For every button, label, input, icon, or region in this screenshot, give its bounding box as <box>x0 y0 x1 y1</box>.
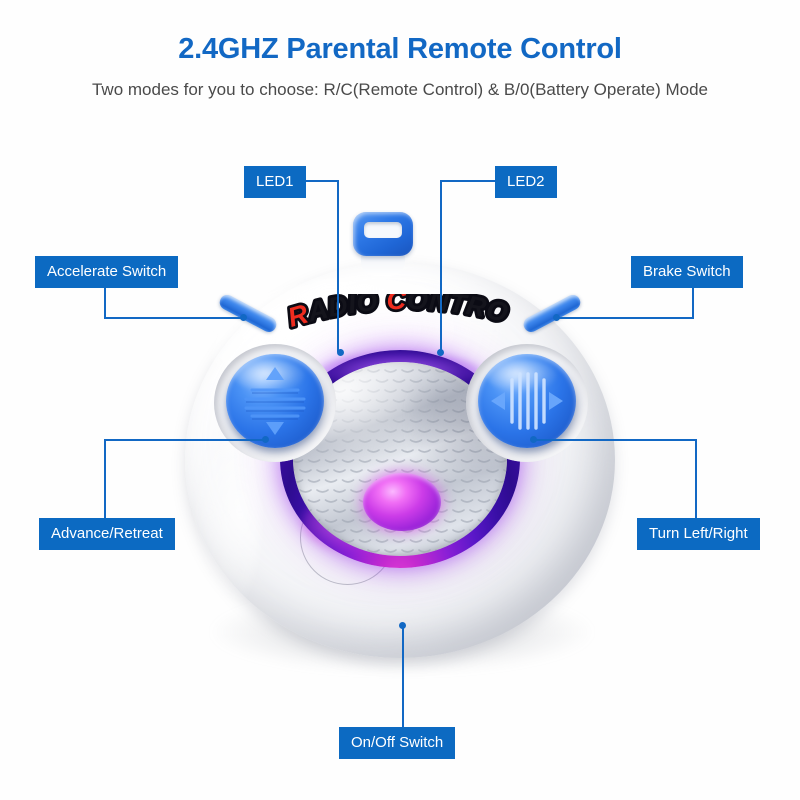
callout-label-turn[interactable]: Turn Left/Right <box>637 518 760 550</box>
brand-logo: RADIO CONTROL RADIO CONTROL <box>285 294 515 338</box>
connector-turn-endpoint <box>530 436 537 443</box>
connector-advance-endpoint <box>262 436 269 443</box>
connector-accelerate-endpoint <box>240 314 247 321</box>
callout-label-led2[interactable]: LED2 <box>495 166 557 198</box>
connector-onoff-vertical <box>402 625 404 728</box>
connector-advance-horizontal <box>104 439 268 441</box>
page-title: 2.4GHZ Parental Remote Control <box>0 33 800 66</box>
remote-control-illustration: RADIO CONTROL RADIO CONTROL <box>185 262 615 684</box>
connector-turn-horizontal <box>533 439 697 441</box>
lanyard-hook <box>353 212 413 256</box>
connector-advance-vertical <box>104 439 106 520</box>
page-subtitle: Two modes for you to choose: R/C(Remote … <box>0 80 800 100</box>
callout-label-onoff[interactable]: On/Off Switch <box>339 727 455 759</box>
left-button-well <box>214 344 336 462</box>
connector-led1-vertical <box>337 180 339 352</box>
lanyard-hook-slot <box>364 222 402 238</box>
center-led-lamp <box>363 473 441 531</box>
left-right-arrows-icon <box>478 354 576 448</box>
connector-accelerate-horizontal <box>104 317 245 319</box>
infographic-canvas: 2.4GHZ Parental Remote Control Two modes… <box>0 0 800 800</box>
connector-led2-vertical <box>440 180 442 352</box>
connector-onoff-endpoint <box>399 622 406 629</box>
callout-label-led1[interactable]: LED1 <box>244 166 306 198</box>
left-dpad-button[interactable] <box>226 354 324 448</box>
svg-text:RADIO CONTROL: RADIO CONTROL <box>285 294 511 333</box>
connector-brake-endpoint <box>553 314 560 321</box>
callout-label-advance[interactable]: Advance/Retreat <box>39 518 175 550</box>
connector-turn-vertical <box>695 439 697 520</box>
right-dpad-button[interactable] <box>478 354 576 448</box>
up-down-arrows-icon <box>226 354 324 448</box>
connector-led1-endpoint <box>337 349 344 356</box>
connector-brake-horizontal <box>556 317 694 319</box>
connector-led2-endpoint <box>437 349 444 356</box>
callout-label-brake[interactable]: Brake Switch <box>631 256 743 288</box>
right-button-well <box>466 344 588 462</box>
connector-led2-horizontal <box>440 180 496 182</box>
callout-label-accelerate[interactable]: Accelerate Switch <box>35 256 178 288</box>
